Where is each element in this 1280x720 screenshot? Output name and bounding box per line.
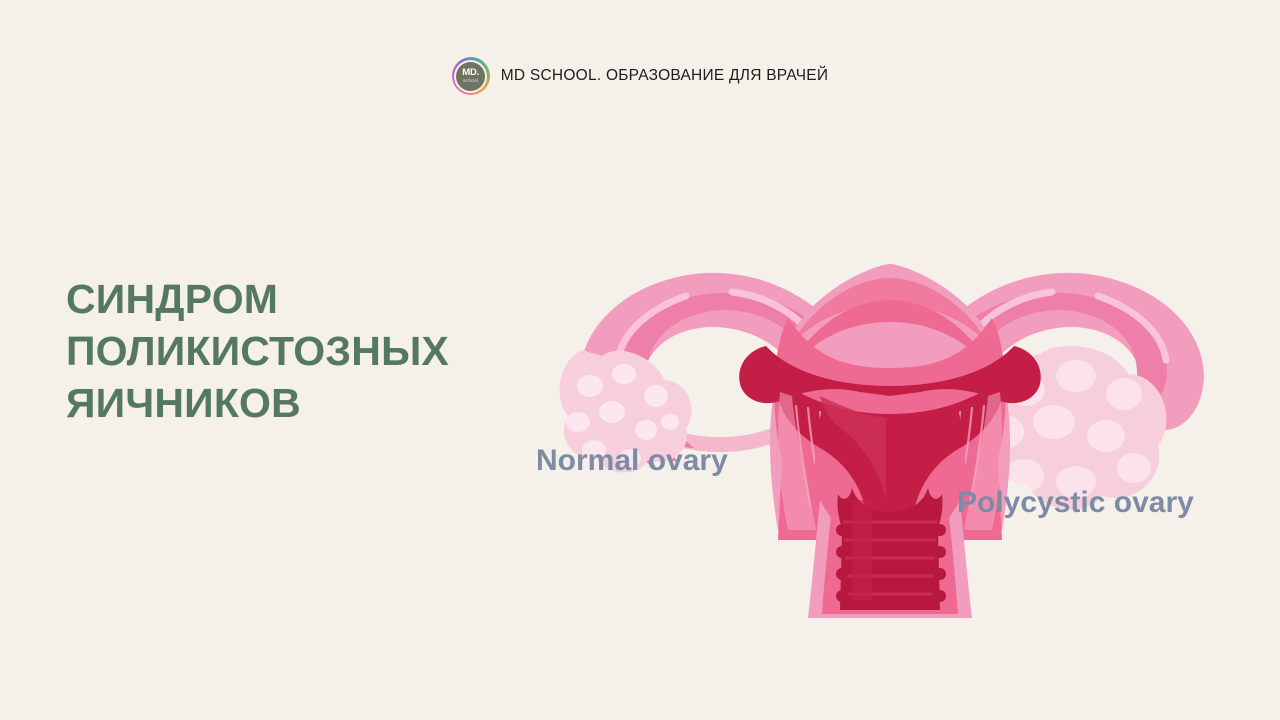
caption-polycystic-ovary: Polycystic ovary xyxy=(957,486,1194,520)
logo-inner-disc: MD. school xyxy=(456,62,485,91)
logo-md-text: MD. xyxy=(462,68,479,78)
md-school-logo-icon: MD. school xyxy=(452,57,490,95)
caption-normal-ovary: Normal ovary xyxy=(536,444,728,478)
brand-title: MD SCHOOL. ОБРАЗОВАНИЕ ДЛЯ ВРАЧЕЙ xyxy=(501,67,829,85)
slide-root: MD. school MD SCHOOL. ОБРАЗОВАНИЕ ДЛЯ ВР… xyxy=(0,0,1280,720)
anatomy-svg xyxy=(520,200,1260,630)
page-title: СИНДРОМ ПОЛИКИСТОЗНЫХ ЯИЧНИКОВ xyxy=(66,273,586,429)
brand-header: MD. school MD SCHOOL. ОБРАЗОВАНИЕ ДЛЯ ВР… xyxy=(0,57,1280,95)
uterus-ovaries-illustration xyxy=(520,200,1260,630)
logo-school-text: school xyxy=(463,79,478,84)
